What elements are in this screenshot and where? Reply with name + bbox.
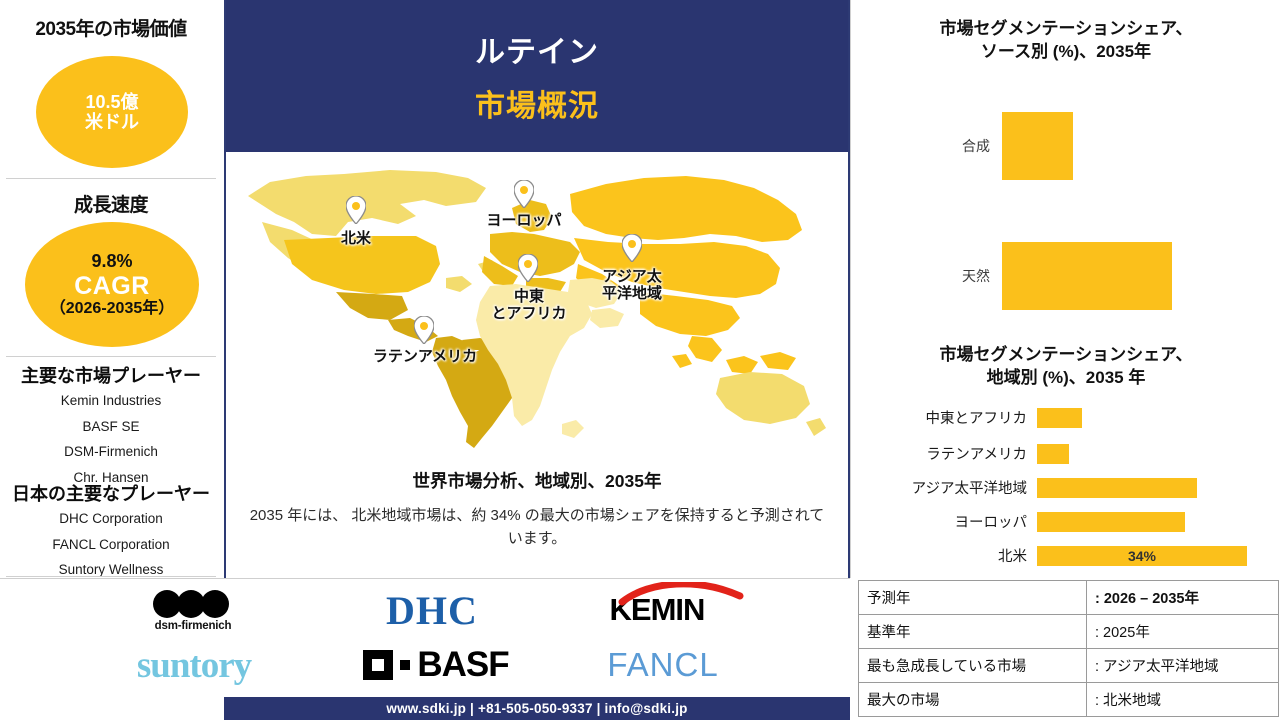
dsm-dots-icon (157, 590, 229, 618)
table-row: 基準年 : 2025年 (859, 615, 1279, 649)
page-subtitle: 市場概況 (475, 81, 599, 125)
region-chart-title: 市場セグメンテーションシェア、 地域別 (%)、2035 年 (858, 344, 1274, 390)
region-bar-label: ラテンアメリカ (852, 443, 1027, 464)
list-item: DSM-Firmenich (0, 439, 222, 465)
map-label-latin-america: ラテンアメリカ (334, 348, 516, 365)
market-value-line2: 米ドル (85, 112, 139, 132)
table-cell-value: : 2025年 (1087, 615, 1279, 649)
source-bar-synthetic (1002, 112, 1073, 180)
source-bar-label-natural: 天然 (928, 266, 990, 286)
basf-dot-icon (400, 660, 410, 670)
footer-contact-text: www.sdki.jp | +81-505-050-9337 | info@sd… (386, 701, 687, 716)
logo-strip: dsm-firmenich DHC KEMIN suntory BASF (0, 578, 850, 697)
logo-dhc-label: DHC (386, 587, 478, 634)
region-bar (1037, 512, 1185, 532)
market-value-bubble: 10.5億 米ドル (36, 56, 188, 168)
logo-dsm-firmenich-label: dsm-firmenich (155, 620, 232, 632)
logo-dhc: DHC (370, 587, 494, 633)
table-cell-key: 基準年 (859, 615, 1087, 649)
divider-1 (6, 178, 216, 179)
growth-rate-block: 成長速度 (0, 190, 222, 217)
map-region-asia-pacific (570, 176, 826, 436)
logo-basf: BASF (352, 641, 520, 689)
map-pin-asia-pacific-icon (622, 234, 642, 262)
table-row: 最大の市場 : 北米地域 (859, 683, 1279, 717)
logo-suntory-label: suntory (137, 644, 251, 687)
region-bar-label: 中東とアフリカ (852, 407, 1027, 428)
source-bar-row-synthetic: 合成 (928, 112, 1073, 180)
table-cell-key: 最大の市場 (859, 683, 1087, 717)
list-item: BASF SE (0, 414, 222, 440)
key-players-heading: 主要な市場プレーヤー (0, 362, 222, 388)
logo-fancl-label: FANCL (607, 646, 718, 684)
source-bar-row-natural: 天然 (928, 242, 1172, 310)
map-label-asia-pacific: アジア太 平洋地域 (576, 268, 688, 303)
region-bar-row: アジア太平洋地域 (852, 474, 1280, 501)
region-bar-row: ヨーロッパ (852, 508, 1280, 535)
title-banner: ルテイン 市場概況 (226, 0, 848, 152)
table-row: 最も急成長している市場 : アジア太平洋地域 (859, 649, 1279, 683)
kemin-swoosh-icon (616, 582, 744, 606)
page-title: ルテイン (475, 27, 599, 71)
region-bar-label: ヨーロッパ (852, 511, 1027, 532)
table-cell-value: : 北米地域 (1087, 683, 1279, 717)
growth-rate-period: （2026-2035年） (50, 300, 175, 318)
japan-players-block: 日本の主要なプレーヤー DHC Corporation FANCL Corpor… (0, 480, 222, 583)
map-description: 2035 年には、 北米地域市場は、約 34% の最大の市場シェアを保持すると予… (244, 504, 830, 551)
region-bar (1037, 408, 1082, 428)
region-bar (1037, 478, 1197, 498)
table-cell-value: : アジア太平洋地域 (1087, 649, 1279, 683)
map-pin-north-america-icon (346, 196, 366, 224)
map-pin-latin-america-icon (414, 316, 434, 344)
logo-basf-label: BASF (417, 645, 508, 685)
market-value-block: 2035年の市場価値 (0, 14, 222, 41)
source-bar-label-synthetic: 合成 (928, 136, 990, 156)
growth-rate-heading: 成長速度 (0, 190, 222, 217)
list-item: FANCL Corporation (0, 532, 222, 558)
region-bar-value: 34% (1128, 548, 1156, 564)
region-bar-label: アジア太平洋地域 (852, 477, 1027, 498)
logo-kemin: KEMIN (592, 587, 722, 633)
table-row: 予測年 : 2026 – 2035年 (859, 581, 1279, 615)
map-label-north-america: 北米 (310, 230, 402, 247)
growth-rate-bubble: 9.8% CAGR （2026-2035年） (25, 222, 199, 347)
region-bar-label: 北米 (852, 545, 1027, 566)
panel-divider-vertical (850, 0, 851, 578)
region-bar-row: ラテンアメリカ (852, 440, 1280, 467)
map-label-europe: ヨーロッパ (454, 212, 594, 229)
source-bar-natural (1002, 242, 1172, 310)
logo-suntory: suntory (104, 641, 284, 689)
key-players-block: 主要な市場プレーヤー Kemin Industries BASF SE DSM-… (0, 362, 222, 491)
source-chart-title: 市場セグメンテーションシェア、 ソース別 (%)、2035年 (858, 18, 1274, 64)
divider-3 (6, 576, 216, 577)
table-cell-value: : 2026 – 2035年 (1087, 581, 1279, 615)
region-bar: 34% (1037, 546, 1247, 566)
infographic-root: 2035年の市場価値 10.5億 米ドル 成長速度 9.8% CAGR （202… (0, 0, 1280, 720)
table-cell-key: 最も急成長している市場 (859, 649, 1087, 683)
map-pin-europe-icon (514, 180, 534, 208)
info-table: 予測年 : 2026 – 2035年 基準年 : 2025年 最も急成長している… (858, 580, 1279, 717)
list-item: Kemin Industries (0, 388, 222, 414)
divider-2 (6, 356, 216, 357)
map-pin-middle-east-africa-icon (518, 254, 538, 282)
growth-rate-metric: CAGR (74, 272, 150, 300)
map-caption: 世界市場分析、地域別、2035年 (226, 468, 848, 493)
market-value-heading: 2035年の市場価値 (0, 14, 222, 41)
market-value-line1: 10.5億 (85, 92, 138, 112)
region-bar-row: 中東とアフリカ (852, 404, 1280, 431)
logo-dsm-firmenich: dsm-firmenich (128, 585, 258, 637)
japan-players-heading: 日本の主要なプレーヤー (0, 480, 222, 506)
growth-rate-value: 9.8% (91, 251, 132, 271)
logo-fancl: FANCL (588, 641, 738, 689)
list-item: DHC Corporation (0, 506, 222, 532)
world-map: 北米 ヨーロッパ 中東 とアフリカ アジア太 平洋地域 ラテンアメリカ (226, 160, 848, 460)
region-bar (1037, 444, 1069, 464)
table-cell-key: 予測年 (859, 581, 1087, 615)
basf-square-icon (363, 650, 393, 680)
footer-contact-bar: www.sdki.jp | +81-505-050-9337 | info@sd… (224, 697, 850, 720)
region-bar-row: 北米 34% (852, 542, 1280, 569)
